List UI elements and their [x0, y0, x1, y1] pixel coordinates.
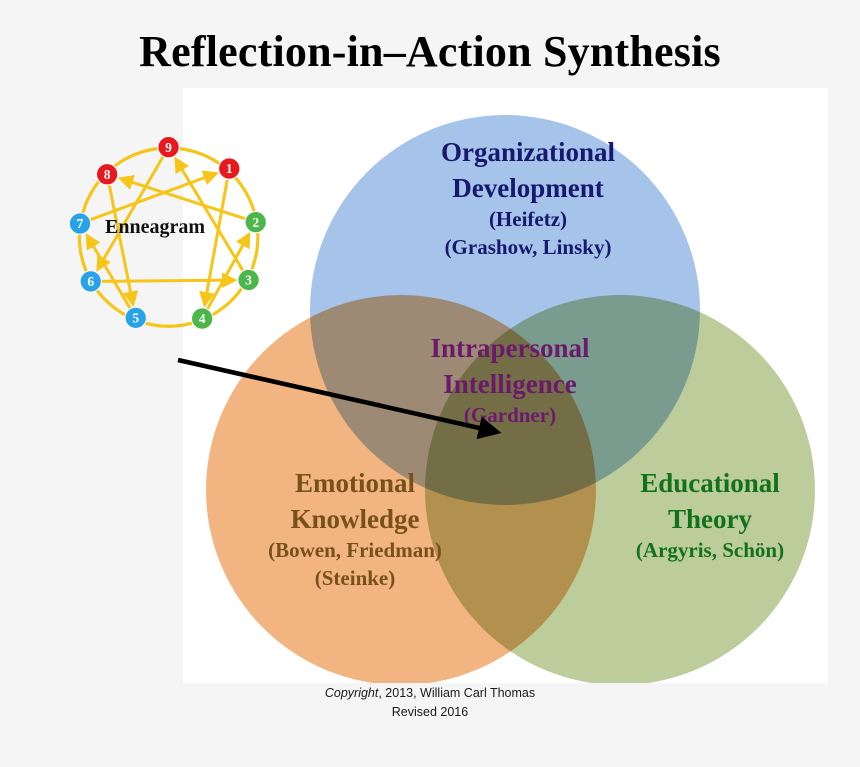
copyright-word: Copyright — [325, 686, 379, 700]
copyright-footer: Copyright, 2013, William Carl Thomas Rev… — [0, 684, 860, 722]
revised-line: Revised 2016 — [0, 703, 860, 722]
diagram-root: Reflection-in–Action Synthesis Organizat… — [0, 0, 860, 767]
pointer-arrow — [0, 0, 860, 767]
copyright-line: Copyright, 2013, William Carl Thomas — [0, 684, 860, 703]
copyright-rest: , 2013, William Carl Thomas — [378, 686, 535, 700]
pointer-arrow-line — [178, 360, 497, 432]
